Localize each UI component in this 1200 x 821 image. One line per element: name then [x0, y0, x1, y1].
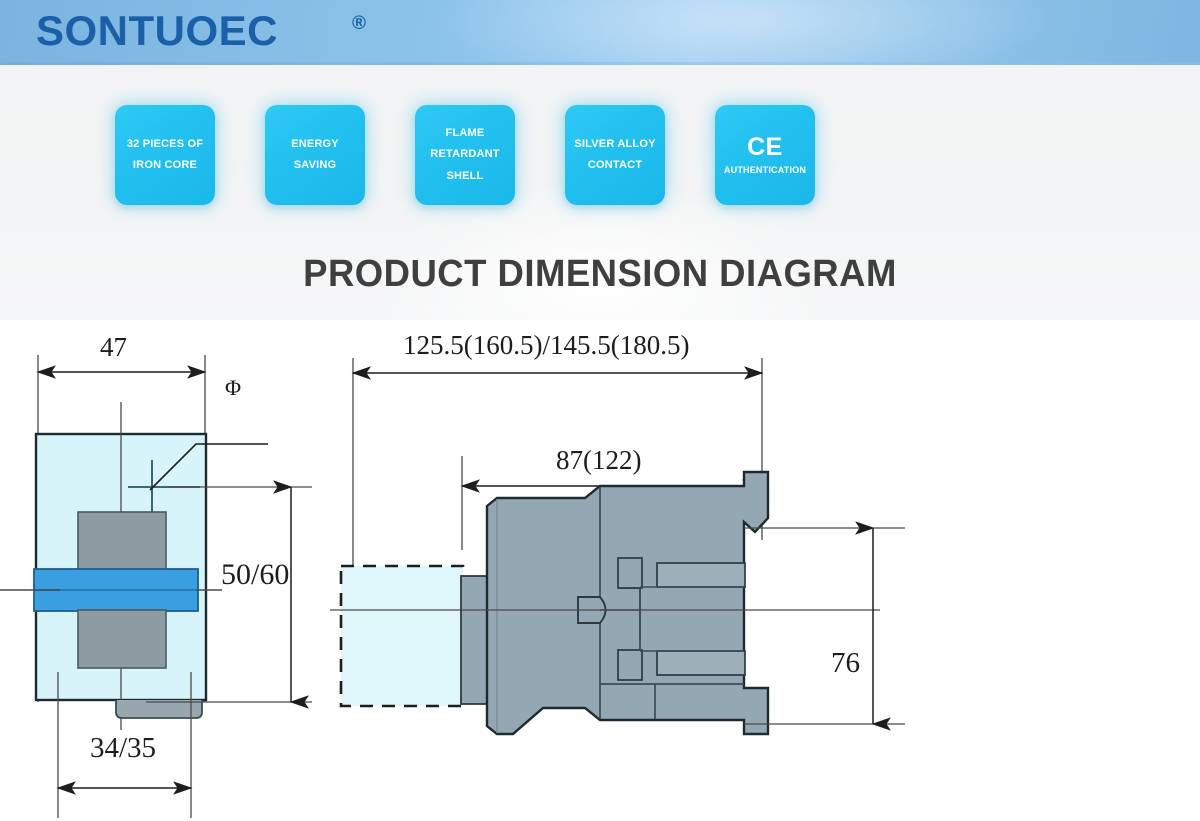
- badge-line: 32 PIECES OF: [127, 134, 203, 155]
- badge-line: CONTACT: [588, 155, 642, 176]
- badge-line: SHELL: [446, 166, 483, 187]
- feature-badge-silver-alloy-contact[interactable]: SILVER ALLOY CONTACT: [565, 105, 665, 205]
- dim-label-mounting-34-35: 34/35: [90, 732, 156, 765]
- page-title: PRODUCT DIMENSION DIAGRAM: [24, 253, 1176, 296]
- dim-label-phi: Φ: [225, 375, 241, 401]
- dim-label-body-length: 87(122): [556, 445, 641, 476]
- feature-badge-energy-saving[interactable]: ENERGY SAVING: [265, 105, 365, 205]
- badge-line: AUTHENTICATION: [724, 163, 806, 177]
- dim-label-height-50-60: 50/60: [221, 558, 289, 592]
- feature-badge-ce-authentication[interactable]: CE AUTHENTICATION: [715, 105, 815, 205]
- badge-line: SILVER ALLOY: [574, 134, 655, 155]
- feature-badge-flame-retardant-shell[interactable]: FLAME RETARDANT SHELL: [415, 105, 515, 205]
- technical-drawing-svg: [0, 320, 1200, 821]
- dim-label-width-47: 47: [100, 332, 127, 363]
- badge-line: ENERGY: [291, 134, 339, 155]
- header-band: SONTUOEC ®: [0, 0, 1200, 65]
- badge-line: FLAME: [446, 123, 485, 144]
- registered-trademark-icon: ®: [352, 13, 366, 35]
- badge-line: IRON CORE: [133, 155, 197, 176]
- badge-line: RETARDANT: [430, 144, 499, 165]
- brand-logo: SONTUOEC: [36, 7, 278, 55]
- dimension-diagram: 47 Φ 50/60 34/35 125.5(160.5)/145.5(180.…: [0, 320, 1200, 821]
- badge-line: CE: [747, 132, 783, 163]
- dim-label-height-76: 76: [831, 647, 860, 680]
- badge-line: SAVING: [294, 155, 337, 176]
- feature-badge-list: 32 PIECES OF IRON CORE ENERGY SAVING FLA…: [115, 105, 825, 220]
- dim-label-overall-length: 125.5(160.5)/145.5(180.5): [403, 330, 689, 361]
- feature-strip: 32 PIECES OF IRON CORE ENERGY SAVING FLA…: [0, 65, 1200, 320]
- product-dimension-page: SONTUOEC ® 32 PIECES OF IRON CORE ENERGY…: [0, 0, 1200, 821]
- side-view-group: [330, 358, 905, 734]
- feature-badge-iron-core[interactable]: 32 PIECES OF IRON CORE: [115, 105, 215, 205]
